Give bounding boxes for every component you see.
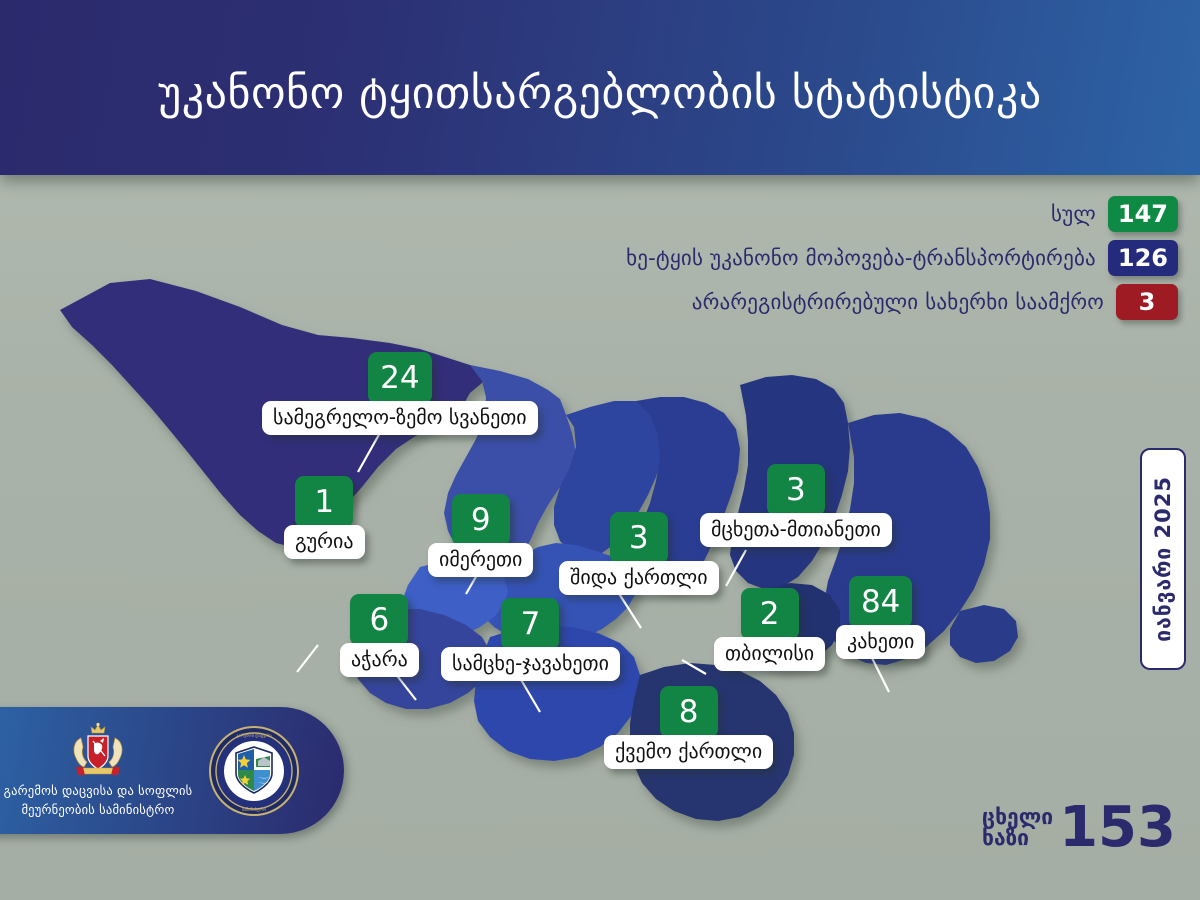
marker-label-mtskheta: მცხეთა-მთიანეთი <box>700 513 892 547</box>
marker-label-adjara: აჭარა <box>340 643 419 677</box>
date-badge: იანვარი 2025 <box>1140 448 1186 670</box>
leader-mtskheta <box>726 550 746 586</box>
marker-value-imereti: 9 <box>452 494 510 546</box>
legend-row-total: სულ 147 <box>1051 196 1178 232</box>
marker-kvemo[interactable]: 8 ქვემო ქართლი <box>604 686 773 769</box>
marker-label-samegrelo: სამეგრელო-ზემო სვანეთი <box>262 401 538 435</box>
marker-value-mtskheta: 3 <box>767 464 825 516</box>
hotline-word2: ხაზი <box>982 828 1053 849</box>
legend-value-sawmill: 3 <box>1116 284 1178 320</box>
legend-value-total: 147 <box>1108 196 1178 232</box>
ministry-name-line1: გარემოს დაცვისა და სოფლის <box>4 782 193 800</box>
leader-guria <box>297 645 318 672</box>
marker-label-guria: გურია <box>284 525 365 559</box>
legend-value-transport: 126 <box>1108 240 1178 276</box>
legend: სულ 147 ხე-ტყის უკანონო მოპოვება-ტრანსპო… <box>626 196 1178 320</box>
georgia-coat-of-arms-icon <box>67 722 129 780</box>
hotline-word1: ცხელი <box>982 807 1053 828</box>
hotline: ცხელი ხაზი 153 <box>982 804 1176 852</box>
hotline-words: ცხელი ხაზი <box>982 807 1053 849</box>
marker-label-shida: შიდა ქართლი <box>559 561 719 595</box>
marker-mtskheta[interactable]: 3 მცხეთა-მთიანეთი <box>700 464 892 547</box>
legend-label-transport: ხე-ტყის უკანონო მოპოვება-ტრანსპორტირება <box>626 246 1096 270</box>
marker-value-kvemo: 8 <box>660 686 718 738</box>
date-text: იანვარი 2025 <box>1151 476 1175 642</box>
marker-shida[interactable]: 3 შიდა ქართლი <box>559 512 719 595</box>
ministry-name-line2: მეურნეობის სამინისტრო <box>4 801 193 819</box>
ministry-seal-icon: გარემოს დაცვისა სამინისტრო <box>208 725 300 817</box>
leader-samtskhe <box>520 678 540 712</box>
marker-samtskhe[interactable]: 7 სამცხე-ჯავახეთი <box>441 598 620 681</box>
marker-samegrelo[interactable]: 24 სამეგრელო-ზემო სვანეთი <box>262 352 538 435</box>
leader-samegrelo <box>358 431 381 472</box>
svg-text:სამინისტრო: სამინისტრო <box>242 807 267 812</box>
legend-row-sawmill: არარეგისტრირებული სახერხი საამქრო 3 <box>692 284 1178 320</box>
marker-tbilisi[interactable]: 2 თბილისი <box>714 588 825 671</box>
leader-shida <box>618 592 641 628</box>
legend-label-sawmill: არარეგისტრირებული სახერხი საამქრო <box>692 290 1104 314</box>
marker-value-shida: 3 <box>610 512 668 564</box>
marker-guria[interactable]: 1 გურია <box>284 476 365 559</box>
marker-value-samtskhe: 7 <box>501 598 559 650</box>
marker-kakheti[interactable]: 84 კახეთი <box>836 576 925 659</box>
marker-label-tbilisi: თბილისი <box>714 637 825 671</box>
marker-label-kvemo: ქვემო ქართლი <box>604 735 773 769</box>
infographic-canvas: უკანონო ტყითსარგებლობის სტატისტიკა <box>0 0 1200 900</box>
legend-row-transport: ხე-ტყის უკანონო მოპოვება-ტრანსპორტირება … <box>626 240 1178 276</box>
legend-label-total: სულ <box>1051 202 1096 226</box>
svg-text:გარემოს დაცვისა: გარემოს დაცვისა <box>236 733 272 738</box>
marker-value-adjara: 6 <box>350 594 408 646</box>
page-title: უკანონო ტყითსარგებლობის სტატისტიკა <box>158 56 1042 118</box>
marker-value-guria: 1 <box>295 476 353 528</box>
ministry-badge: გარემოს დაცვისა და სოფლის მეურნეობის სამ… <box>0 707 344 834</box>
leader-adjara <box>395 673 416 700</box>
marker-value-tbilisi: 2 <box>741 588 799 640</box>
marker-imereti[interactable]: 9 იმერეთი <box>428 494 533 577</box>
marker-value-kakheti: 84 <box>849 576 912 628</box>
marker-label-kakheti: კახეთი <box>836 625 925 659</box>
hotline-number: 153 <box>1059 804 1176 852</box>
marker-value-samegrelo: 24 <box>368 352 431 404</box>
marker-label-imereti: იმერეთი <box>428 543 533 577</box>
leader-tbilisi <box>682 660 706 674</box>
header-bar: უკანონო ტყითსარგებლობის სტატისტიკა <box>0 0 1200 175</box>
marker-label-samtskhe: სამცხე-ჯავახეთი <box>441 647 620 681</box>
ministry-name: გარემოს დაცვისა და სოფლის მეურნეობის სამ… <box>4 782 193 818</box>
marker-adjara[interactable]: 6 აჭარა <box>340 594 419 677</box>
